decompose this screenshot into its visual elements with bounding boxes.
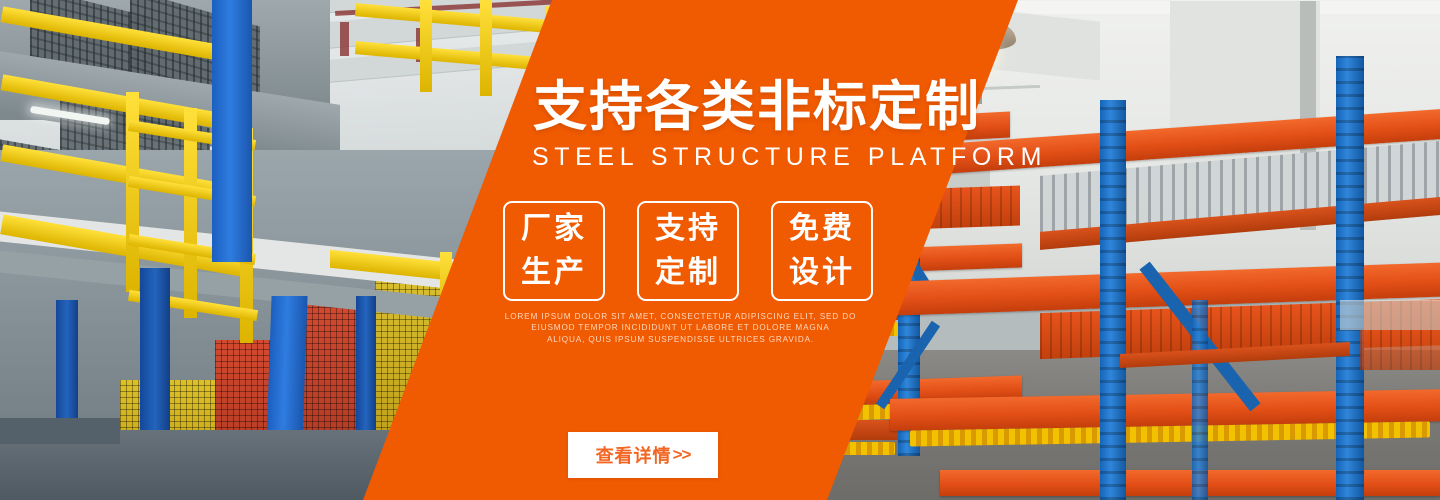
- view-details-button[interactable]: 查看详情 >>: [568, 432, 718, 478]
- badge-line-2: 设计: [789, 251, 855, 295]
- page-subtitle: STEEL STRUCTURE PLATFORM: [532, 143, 1047, 171]
- double-chevron-right-icon: >>: [673, 445, 691, 465]
- badge-line-1: 支持: [655, 207, 721, 251]
- page-title: 支持各类非标定制: [533, 78, 981, 136]
- badge-support-customization: 支持 定制: [637, 201, 739, 301]
- description-line-3: ALIQUA, QUIS IPSUM SUSPENDISSE ULTRICES …: [498, 334, 863, 345]
- badge-line-1: 免费: [789, 207, 855, 251]
- description-line-2: EIUSMOD TEMPOR INCIDIDUNT UT LABORE ET D…: [498, 322, 863, 333]
- promo-banner: 支持各类非标定制 STEEL STRUCTURE PLATFORM 厂家 生产 …: [0, 0, 1440, 500]
- badge-line-2: 生产: [521, 251, 587, 295]
- feature-badge-list: 厂家 生产 支持 定制 免费 设计: [503, 201, 873, 301]
- badge-line-1: 厂家: [521, 207, 587, 251]
- description-text: LOREM IPSUM DOLOR SIT AMET, CONSECTETUR …: [498, 311, 863, 345]
- banner-content: 支持各类非标定制 STEEL STRUCTURE PLATFORM 厂家 生产 …: [0, 0, 1440, 500]
- badge-manufacturer-production: 厂家 生产: [503, 201, 605, 301]
- badge-free-design: 免费 设计: [771, 201, 873, 301]
- view-details-label: 查看详情: [596, 442, 672, 468]
- description-line-1: LOREM IPSUM DOLOR SIT AMET, CONSECTETUR …: [498, 311, 863, 322]
- badge-line-2: 定制: [655, 251, 721, 295]
